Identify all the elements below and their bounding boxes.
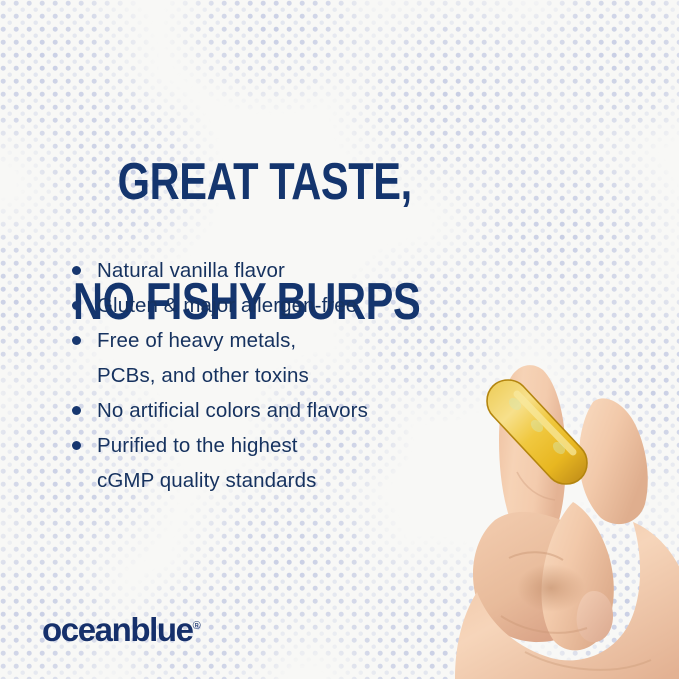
feature-list: Natural vanilla flavor Gluten & major al…: [72, 255, 472, 500]
list-item: Free of heavy metals,: [72, 325, 472, 357]
list-item-label: PCBs, and other toxins: [97, 360, 309, 392]
crease: [509, 552, 563, 560]
registered-trademark-icon: ®: [193, 620, 201, 632]
index-finger: [499, 365, 566, 538]
knuckle-shadow: [517, 564, 585, 612]
bullet-dot-placeholder: [72, 371, 81, 380]
bullet-dot-icon: [72, 441, 81, 450]
palm: [455, 522, 679, 679]
crease: [517, 472, 555, 500]
list-item: Purified to the highest: [72, 430, 472, 462]
list-item-label: cGMP quality standards: [97, 465, 316, 497]
list-item: No artificial colors and flavors: [72, 395, 472, 427]
list-item: Natural vanilla flavor: [72, 255, 472, 287]
bullet-dot-icon: [72, 301, 81, 310]
list-item-continuation: cGMP quality standards: [72, 465, 472, 497]
fingernail: [577, 591, 613, 642]
crease: [525, 652, 651, 670]
list-item: Gluten & major allergen-free: [72, 290, 472, 322]
brand-logo-name: oceanblue: [42, 611, 193, 648]
knuckles: [473, 512, 604, 642]
crease: [501, 616, 587, 633]
headline-line-1: GREAT TASTE,: [118, 153, 412, 211]
list-item-label: Gluten & major allergen-free: [97, 290, 357, 322]
bullet-dot-icon: [72, 336, 81, 345]
list-item-label: No artificial colors and flavors: [97, 395, 368, 427]
list-item-label: Natural vanilla flavor: [97, 255, 285, 287]
bullet-dot-icon: [72, 406, 81, 415]
middle-finger: [542, 502, 614, 650]
bullet-dot-icon: [72, 266, 81, 275]
marketing-graphic: GREAT TASTE, NO FISHY BURPS Natural vani…: [0, 0, 679, 679]
list-item-continuation: PCBs, and other toxins: [72, 360, 472, 392]
list-item-label: Purified to the highest: [97, 430, 298, 462]
bullet-dot-placeholder: [72, 476, 81, 485]
thumb: [579, 398, 648, 524]
golden-softgel-capsule: [487, 380, 587, 484]
hand-holding-capsule-image: [455, 352, 679, 679]
list-item-label: Free of heavy metals,: [97, 325, 296, 357]
brand-logo: oceanblue®: [42, 613, 201, 646]
